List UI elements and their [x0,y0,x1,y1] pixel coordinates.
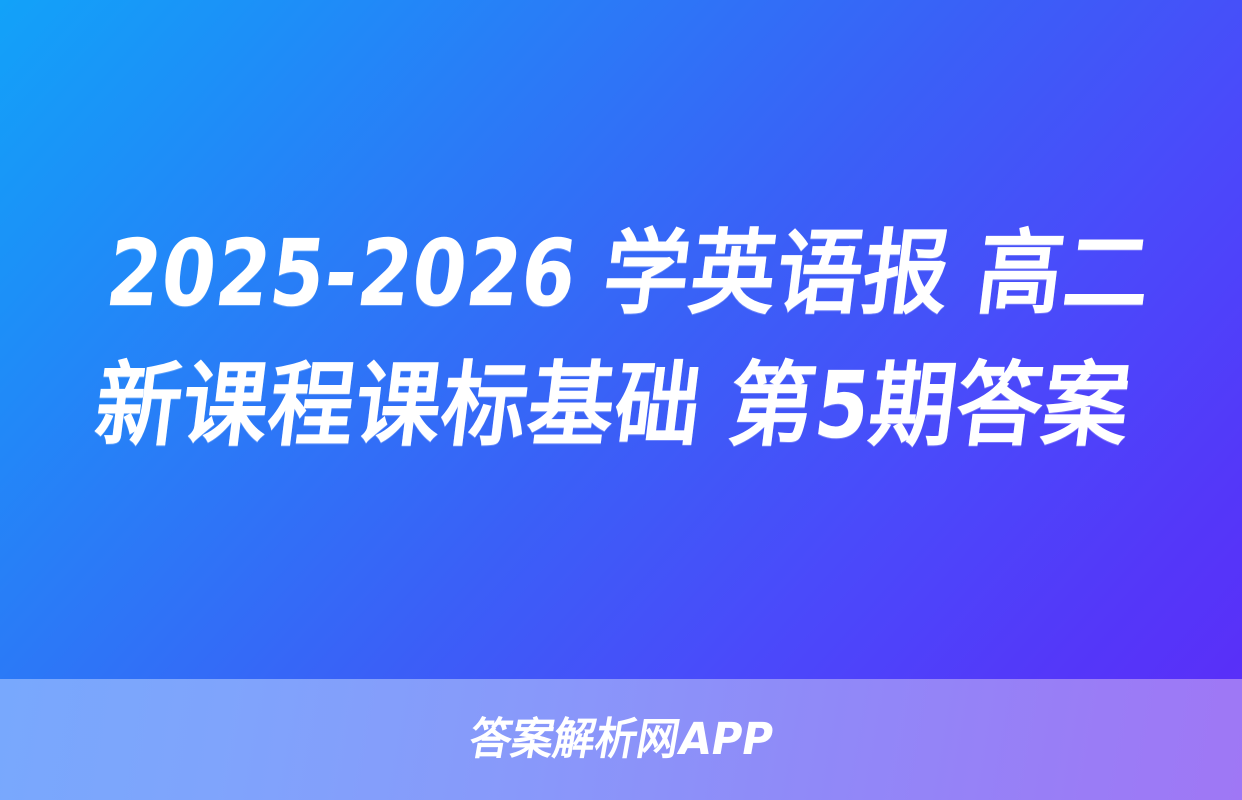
watermark-label: 答案解析网APP [465,712,778,768]
watermark-bar: 答案解析网APP [0,679,1242,800]
headline-block: 2025-2026 学英语报 高二 新课程课标基础 第5期答案 [0,0,1242,679]
banner-image: 2025-2026 学英语报 高二 新课程课标基础 第5期答案 答案解析网APP [0,0,1242,800]
page-title: 2025-2026 学英语报 高二 新课程课标基础 第5期答案 [79,208,1162,472]
